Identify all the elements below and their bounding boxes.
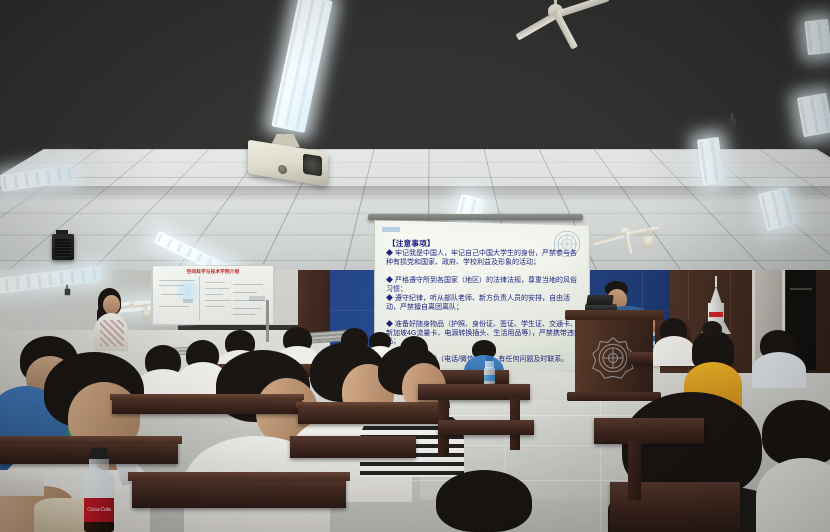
ceiling-light-panel xyxy=(804,19,830,55)
lecture-desk-row xyxy=(438,420,534,435)
lecture-desk-surface xyxy=(110,394,304,400)
ceiling-downlight xyxy=(642,236,655,249)
audience-torso xyxy=(653,336,695,366)
slide-accent-bar xyxy=(382,227,400,232)
whiteboard-stand xyxy=(266,300,269,342)
ceiling-shadow-edge xyxy=(0,186,830,202)
wall-speaker xyxy=(52,234,74,260)
whiteboard-title: 空间科学与技术学院介绍 xyxy=(153,269,273,275)
lecture-desk-surface xyxy=(0,436,182,444)
bottle-label xyxy=(484,375,495,381)
lecture-desk-row xyxy=(290,436,416,458)
lecture-desk-surface xyxy=(296,402,450,408)
rocket-nose-cone xyxy=(710,286,722,304)
projector-lens xyxy=(303,153,322,176)
rocket-flag-marking xyxy=(709,312,723,317)
podium-desktop xyxy=(565,310,663,320)
slide-title: 【注意事项】 xyxy=(388,238,435,249)
bottle-label: Coca-Cola xyxy=(84,498,114,522)
rocket-nose-spike xyxy=(715,276,717,287)
staff-pattern xyxy=(100,320,124,346)
audience-torso xyxy=(752,352,806,388)
bottle-cap xyxy=(91,448,107,459)
audience-sleeve-foreground xyxy=(0,470,44,496)
whiteboard-poster: 空间科学与技术学院介绍 xyxy=(151,264,275,326)
staff-head xyxy=(103,295,120,314)
ceiling-light-panel xyxy=(271,0,332,133)
ceiling-downlight xyxy=(142,310,151,319)
slide-bullet: ◆ 遵守纪律，听从部队老师、新方负责人员的安排，自由活动，严禁擅自离团离队； xyxy=(386,295,581,312)
fire-sprinkler-head xyxy=(65,289,71,295)
bottle-brand-text: Coca-Cola xyxy=(87,507,111,513)
podium-base xyxy=(567,392,661,401)
audience-hair-bun xyxy=(702,321,722,337)
audience-hair xyxy=(762,400,830,466)
fire-sprinkler-head xyxy=(729,118,736,126)
bottle-contents xyxy=(84,522,114,532)
lecture-desk-row xyxy=(132,478,346,508)
slide-bullet: ◆ 牢记我是中国人，牢记自己中国大学生的身份，严禁参与各种有损党和国家、政府、学… xyxy=(386,250,581,267)
water-bottle[interactable] xyxy=(484,356,495,386)
coca-cola-bottle[interactable]: Coca-Cola xyxy=(84,448,114,532)
lecture-hall-photo: 【注意事项】 ◆ 牢记我是中国人，牢记自己中国大学生的身份，严禁参与各种有损党和… xyxy=(0,0,830,532)
audience-hair xyxy=(436,470,532,532)
lecture-desk-row-right xyxy=(594,418,704,444)
ceiling-light-panel xyxy=(797,93,830,138)
rocket-fin-right xyxy=(723,320,731,334)
lecture-desk-surface xyxy=(128,472,350,481)
slide-bullet: ◆ 严格遵守所到各国家（地区）的法律法规，尊重当地的风俗习惯； xyxy=(386,277,581,294)
projection-screen-roller xyxy=(368,214,583,220)
bottle-neck xyxy=(89,459,109,475)
laptop-screen xyxy=(586,295,613,305)
desk-leg xyxy=(628,440,641,500)
